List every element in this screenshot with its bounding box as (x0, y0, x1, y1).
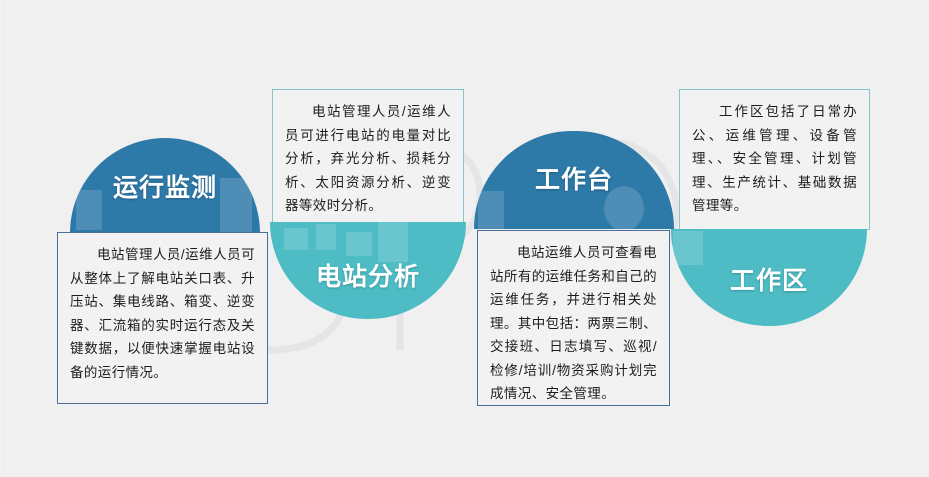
card-dianzhan-fenxi-title: 电站分析 (270, 257, 466, 293)
dome-decoration-square (378, 222, 408, 262)
card-gongzuotai-dome[interactable]: 工作台 (474, 131, 674, 229)
dome-decoration-square (346, 232, 372, 256)
diagram-canvas: 运行监测 电站管理人员/运维人员可从整体上了解电站关口表、升压站、集电线路、箱变… (0, 0, 929, 477)
card-dianzhan-fenxi-description: 电站管理人员/运维人员可进行电站的电量对比分析，弃光分析、损耗分析、太阳资源分析… (272, 89, 464, 225)
card-gongzuoqu-title: 工作区 (671, 261, 867, 297)
card-gongzuotai-title: 工作台 (474, 160, 674, 196)
left-edge-rule (4, 0, 6, 477)
card-yunxing-jiance-title: 运行监测 (70, 168, 260, 204)
card-yunxing-jiance-dome[interactable]: 运行监测 (70, 138, 260, 233)
card-gongzuoqu-dome[interactable]: 工作区 (671, 229, 867, 326)
card-dianzhan-fenxi-dome[interactable]: 电站分析 (270, 222, 466, 319)
dome-decoration-square (284, 228, 308, 250)
dome-decoration-square (316, 224, 336, 250)
card-gongzuotai-description: 电站运维人员可查看电站所有的运维任务和自己的运维任务，并进行相关处理。其中包括：… (477, 230, 670, 406)
dome-decoration-square (478, 191, 504, 229)
card-gongzuoqu-description: 工作区包括了日常办公、运维管理、设备管理、、安全管理、计划管理、生产统计、基础数… (679, 89, 870, 230)
dome-decoration-square (673, 231, 703, 265)
card-yunxing-jiance-description: 电站管理人员/运维人员可从整体上了解电站关口表、升压站、集电线路、箱变、逆变器、… (57, 232, 268, 404)
